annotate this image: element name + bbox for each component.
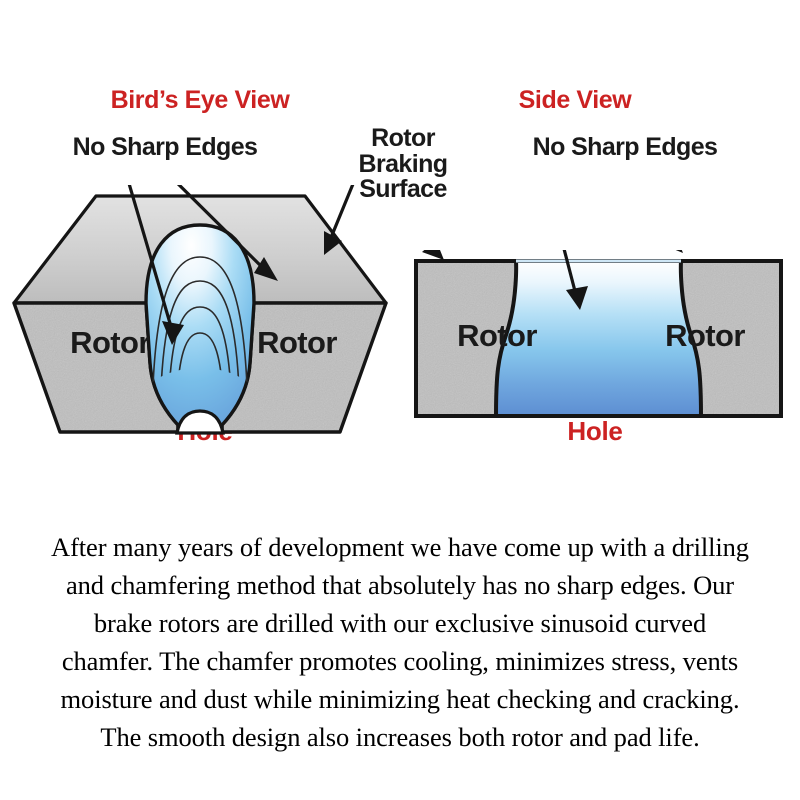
- arrow-icon-rotor-braking-surface: [324, 185, 369, 255]
- diagram-page: Bird’s Eye View Side View No Sharp Edges…: [0, 0, 800, 800]
- right-no-sharp-edges-label: No Sharp Edges: [470, 135, 780, 161]
- paragraph-line-1: After many years of development we have …: [0, 528, 800, 566]
- birds-eye-view-diagram: [0, 185, 400, 435]
- left-panel-title: Bird’s Eye View: [45, 88, 355, 114]
- arrow-icon-side-nse-right: [628, 250, 683, 253]
- paragraph-line-6: The smooth design also increases both ro…: [0, 718, 800, 756]
- paragraph-line-3: brake rotors are drilled with our exclus…: [0, 604, 800, 642]
- paragraph-line-2: and chamfering method that absolutely ha…: [0, 566, 800, 604]
- paragraph-line-5: moisture and dust while minimizing heat …: [0, 680, 800, 718]
- description-paragraph: After many years of development we have …: [0, 528, 800, 756]
- right-rotor-label-b: Rotor: [640, 320, 770, 352]
- left-no-sharp-edges-label: No Sharp Edges: [15, 135, 315, 161]
- left-rotor-label-a: Rotor: [45, 327, 175, 359]
- right-rotor-label-a: Rotor: [432, 320, 562, 352]
- right-panel-title: Side View: [455, 88, 695, 114]
- paragraph-line-4: chamfer. The chamfer promotes cooling, m…: [0, 642, 800, 680]
- left-rotor-label-b: Rotor: [232, 327, 362, 359]
- arrow-icon-side-braking-surface: [400, 250, 444, 260]
